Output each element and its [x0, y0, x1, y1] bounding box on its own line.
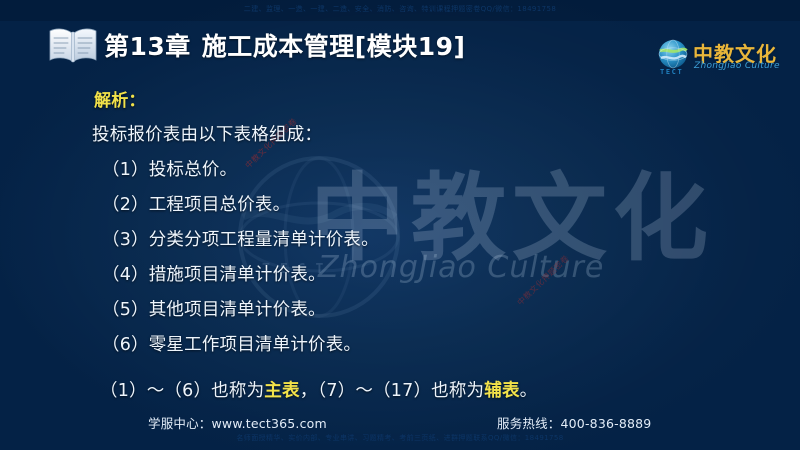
- summary-highlight-aux-table: 辅表: [484, 381, 519, 401]
- list-item: （2）工程项目总价表。: [102, 191, 290, 216]
- section-label-analysis: 解析：: [94, 86, 146, 111]
- slide-footer: 学服中心：www.tect365.com 服务热线：400-836-8889 名…: [0, 405, 800, 450]
- globe-icon: [658, 39, 688, 69]
- footer-micro-text: 名师面授精华、实价内部、专业串讲、习题精考、考前三页纸、进群押题联系QQ/微信：…: [0, 433, 800, 443]
- open-book-icon: [47, 26, 99, 64]
- list-item: （1）投标总价。: [102, 156, 237, 181]
- page-title-chapter: 第13章: [104, 32, 191, 61]
- top-banner-text: 二建、监理、一造、一建、二造、安全、消防、咨询、特训课程押题密卷QQ/微信：18…: [0, 4, 800, 14]
- list-item: （6）零星工作项目清单计价表。: [102, 331, 361, 356]
- footer-hotline: 服务热线：400-836-8889: [497, 413, 651, 432]
- slide-header: 第13章施工成本管理[模块19]: [0, 21, 800, 68]
- page-title-subject: 施工成本管理[模块19]: [202, 32, 466, 61]
- page-title: 第13章施工成本管理[模块19]: [104, 27, 465, 63]
- list-item: （5）其他项目清单计价表。: [102, 296, 326, 321]
- list-item: （3）分类分项工程量清单计价表。: [102, 226, 379, 251]
- summary-part-1: （1）～（6）也称为: [100, 381, 264, 401]
- summary-highlight-main-table: 主表: [264, 381, 299, 401]
- footer-service-center: 学服中心：www.tect365.com: [148, 413, 327, 432]
- summary-line: （1）～（6）也称为主表，（7）～（17）也称为辅表。: [100, 377, 537, 402]
- intro-text: 投标报价表由以下表格组成：: [92, 121, 322, 146]
- summary-part-2: ，（7）～（17）也称为: [300, 381, 485, 401]
- summary-part-3: 。: [520, 381, 538, 401]
- list-item: （4）措施项目清单计价表。: [102, 261, 326, 286]
- slide-content: 解析： 投标报价表由以下表格组成： （1）投标总价。 （2）工程项目总价表。 （…: [0, 70, 800, 405]
- slide-root: 二建、监理、一造、一建、二造、安全、消防、咨询、特训课程押题密卷QQ/微信：18…: [0, 0, 800, 450]
